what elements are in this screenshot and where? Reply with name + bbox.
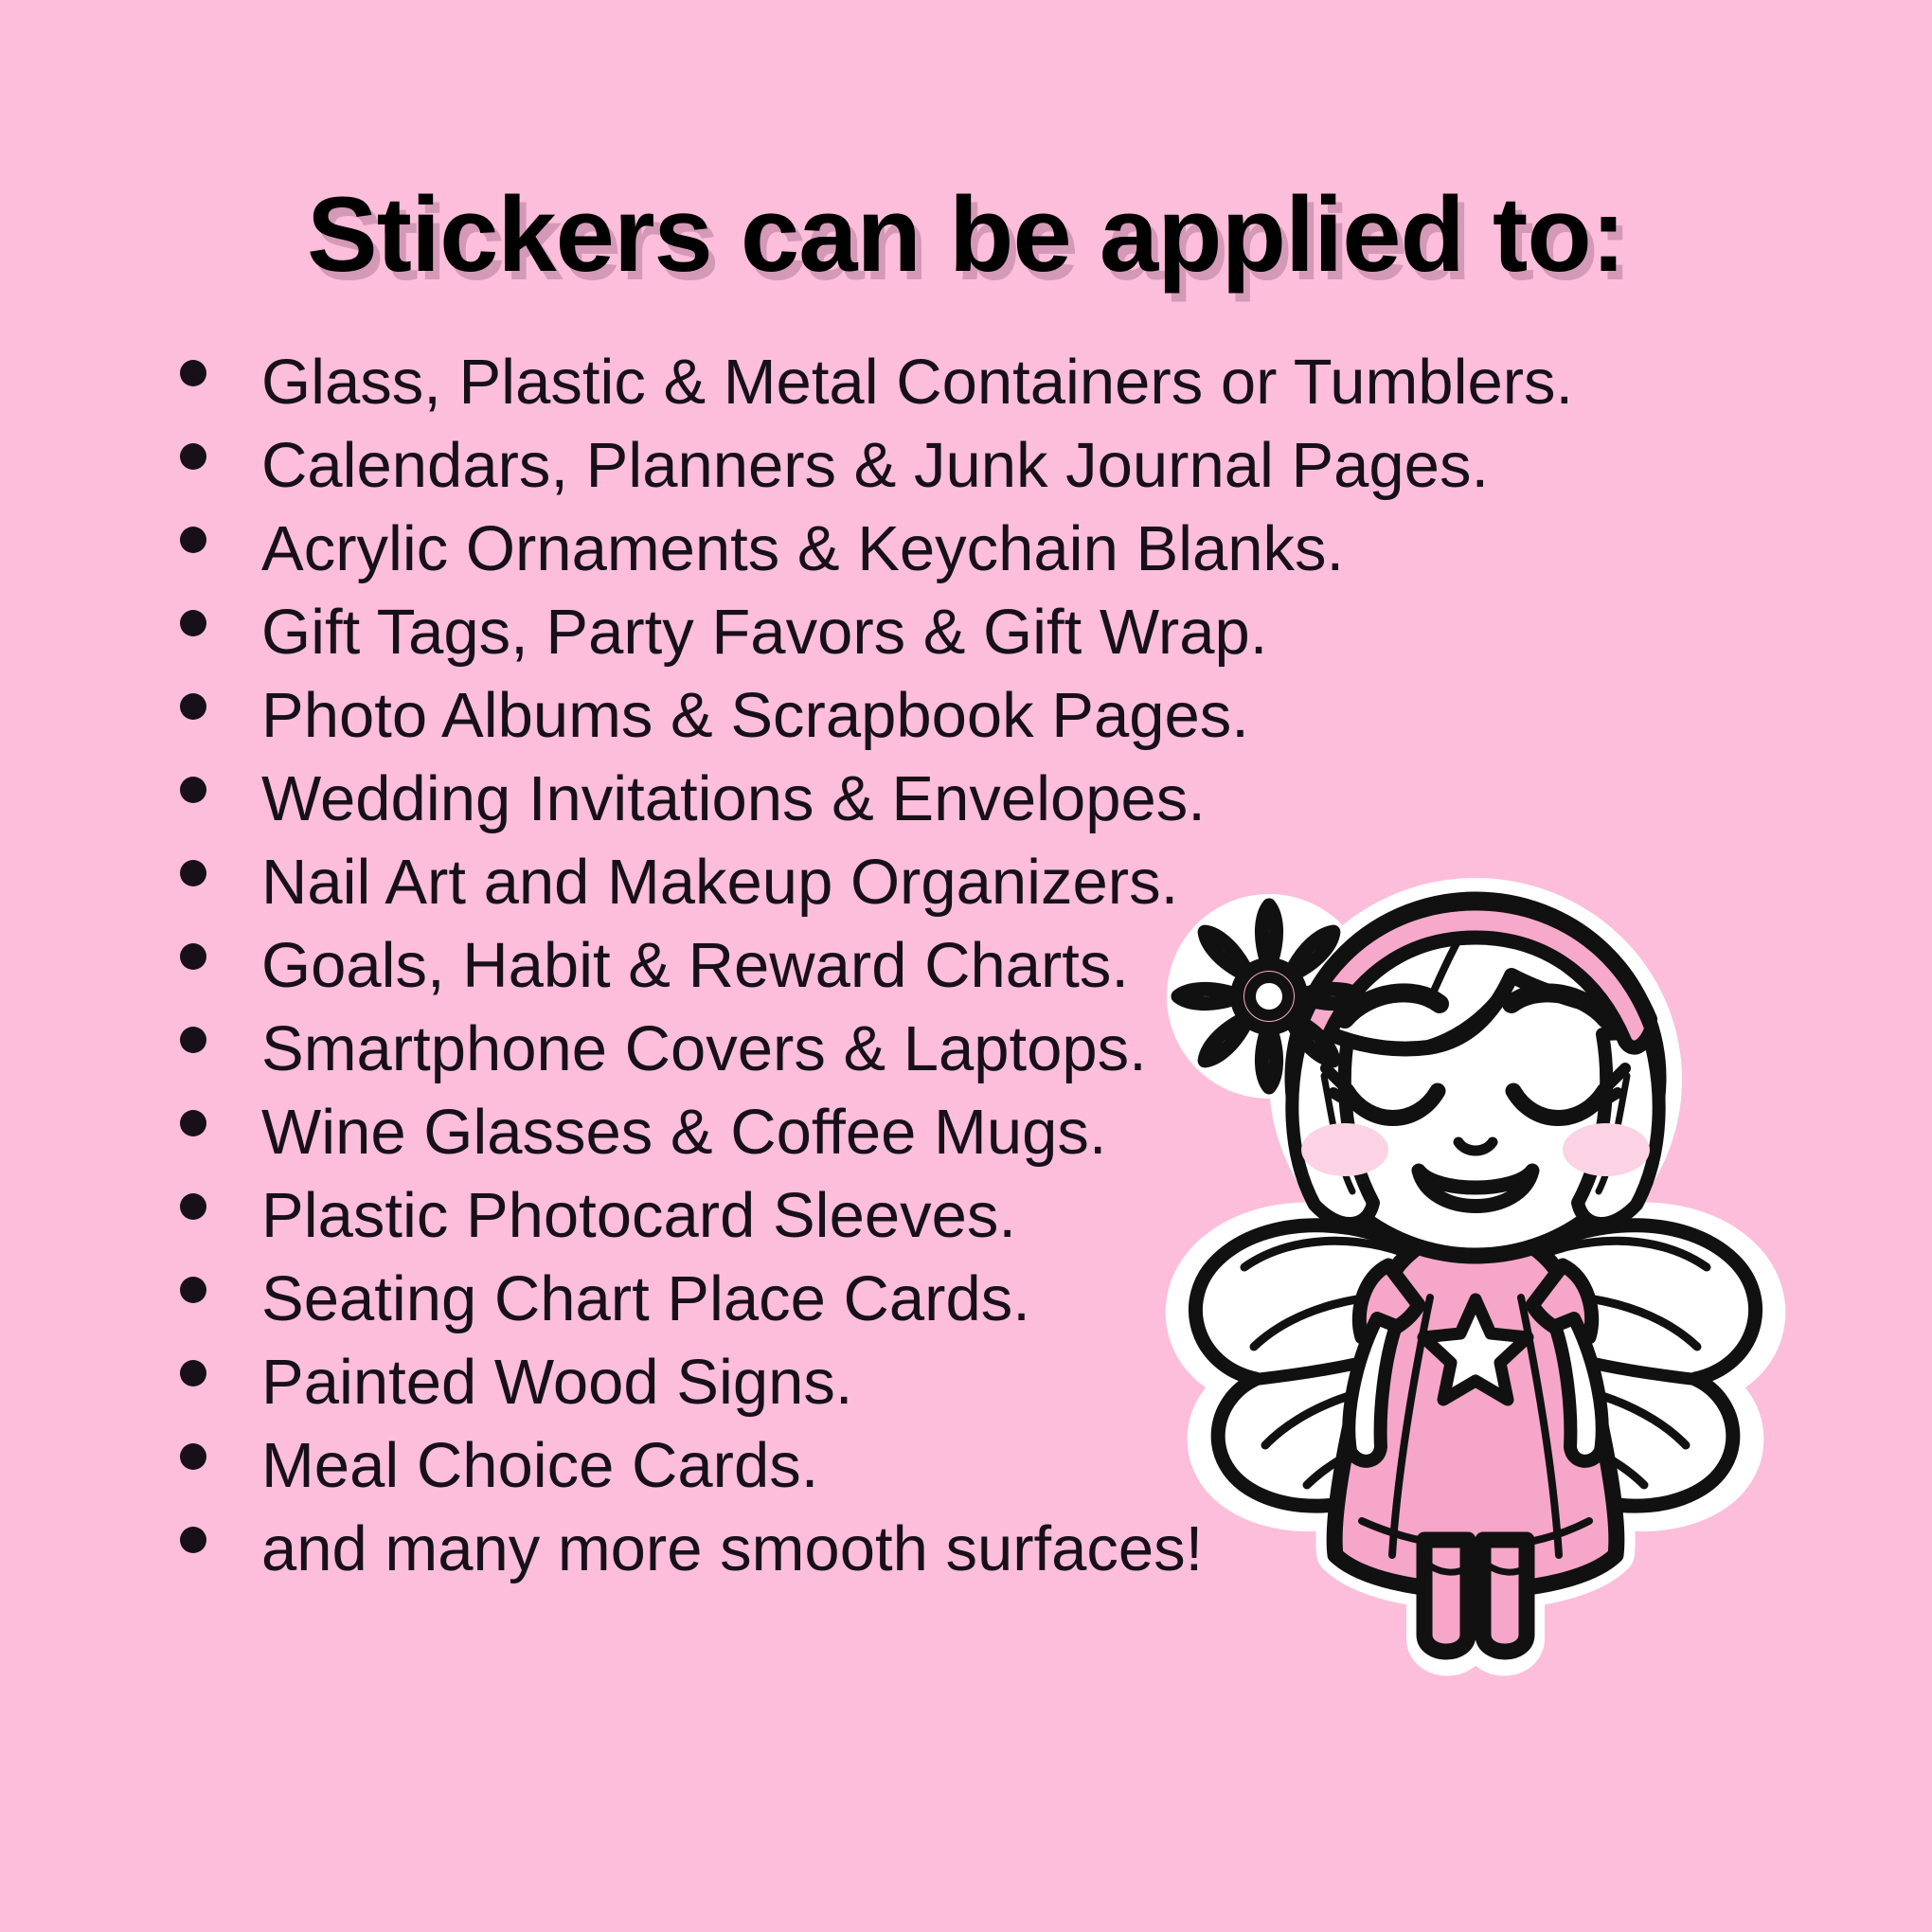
bullet-icon — [180, 610, 206, 636]
list-item: Plastic Photocard Sleeves. — [180, 1174, 1809, 1258]
list-item: Glass, Plastic & Metal Containers or Tum… — [180, 341, 1809, 424]
bullet-icon — [180, 1193, 206, 1220]
bullet-icon — [180, 693, 206, 720]
list-item-label: Seating Chart Place Cards. — [261, 1258, 1030, 1341]
bullet-icon — [180, 527, 206, 553]
bullet-icon — [180, 1360, 206, 1386]
bullet-icon — [180, 777, 206, 803]
list-item-label: Painted Wood Signs. — [261, 1341, 853, 1424]
list-item-label: Calendars, Planners & Junk Journal Pages… — [261, 424, 1489, 508]
list-item-label: Nail Art and Makeup Organizers. — [261, 841, 1178, 924]
list-item: Smartphone Covers & Laptops. — [180, 1008, 1809, 1091]
list-item-label: Wine Glasses & Coffee Mugs. — [261, 1091, 1106, 1174]
list-item-label: Photo Albums & Scrapbook Pages. — [261, 674, 1249, 758]
list-item-label: Wedding Invitations & Envelopes. — [261, 758, 1206, 841]
bullet-icon — [180, 360, 206, 386]
list-item-label: Gift Tags, Party Favors & Gift Wrap. — [261, 591, 1267, 674]
list-item-label: Plastic Photocard Sleeves. — [261, 1174, 1016, 1258]
page-title: Stickers can be applied to: — [0, 182, 1932, 288]
list-item-label: and many more smooth surfaces! — [261, 1508, 1203, 1591]
list-item: Nail Art and Makeup Organizers. — [180, 841, 1809, 924]
list-item: and many more smooth surfaces! — [180, 1508, 1809, 1591]
list-item: Photo Albums & Scrapbook Pages. — [180, 674, 1809, 758]
bullet-icon — [180, 1110, 206, 1136]
list-item-label: Glass, Plastic & Metal Containers or Tum… — [261, 341, 1573, 424]
list-item: Wedding Invitations & Envelopes. — [180, 758, 1809, 841]
list-item: Wine Glasses & Coffee Mugs. — [180, 1091, 1809, 1174]
list-item: Calendars, Planners & Junk Journal Pages… — [180, 424, 1809, 508]
poster-canvas: Stickers can be applied to: Glass, Plast… — [0, 0, 1932, 1932]
bullet-icon — [180, 1277, 206, 1303]
list-item-label: Meal Choice Cards. — [261, 1424, 818, 1508]
surface-list: Glass, Plastic & Metal Containers or Tum… — [180, 341, 1809, 1591]
list-item-label: Smartphone Covers & Laptops. — [261, 1008, 1147, 1091]
list-item: Painted Wood Signs. — [180, 1341, 1809, 1424]
bullet-icon — [180, 1027, 206, 1053]
bullet-icon — [180, 860, 206, 886]
list-item: Meal Choice Cards. — [180, 1424, 1809, 1508]
bullet-icon — [180, 443, 206, 470]
list-item: Goals, Habit & Reward Charts. — [180, 924, 1809, 1008]
list-item-label: Acrylic Ornaments & Keychain Blanks. — [261, 508, 1344, 591]
bullet-icon — [180, 943, 206, 970]
list-item-label: Goals, Habit & Reward Charts. — [261, 924, 1129, 1008]
bullet-icon — [180, 1443, 206, 1470]
list-item: Gift Tags, Party Favors & Gift Wrap. — [180, 591, 1809, 674]
list-item: Seating Chart Place Cards. — [180, 1258, 1809, 1341]
bullet-icon — [180, 1527, 206, 1553]
list-item: Acrylic Ornaments & Keychain Blanks. — [180, 508, 1809, 591]
